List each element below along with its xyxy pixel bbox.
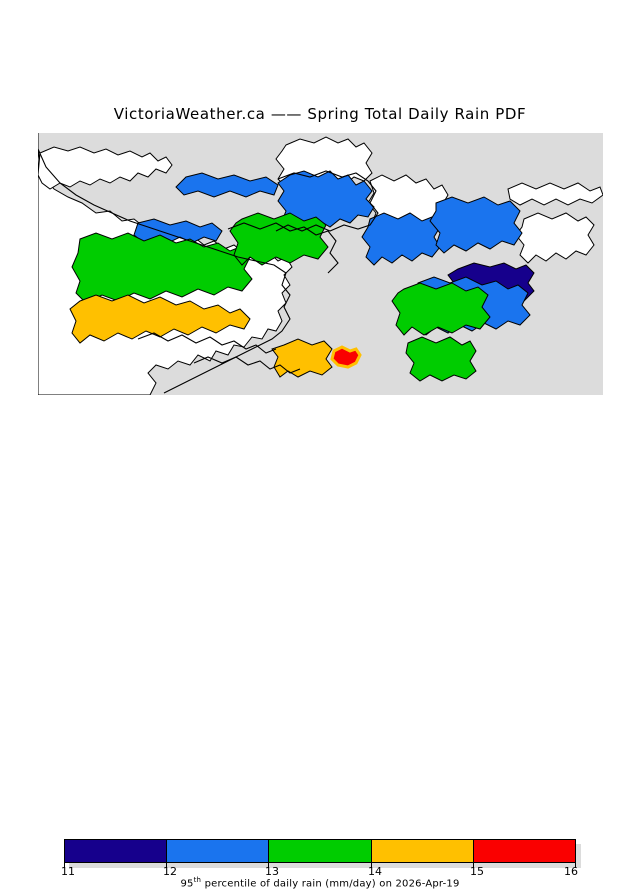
region-southeast-island-green (406, 337, 476, 381)
map-panel[interactable] (38, 133, 603, 395)
page-title: VictoriaWeather.ca —— Spring Total Daily… (0, 105, 640, 123)
colorbar-band-14-15[interactable] (371, 840, 473, 862)
colorbar-legend: 11 12 13 14 15 16 95th percentile of dai… (0, 415, 640, 480)
region-san-juan-green (230, 213, 328, 265)
region-trial-island-red (332, 347, 360, 367)
caption-rest: percentile of daily rain (mm/day) on 202… (201, 878, 459, 889)
colorbar-band-12-13[interactable] (166, 840, 268, 862)
colorbar-band-11-12[interactable] (65, 840, 166, 862)
region-east-green-strip (392, 283, 490, 335)
colorbar-band-15-16[interactable] (473, 840, 575, 862)
map-canvas[interactable] (38, 133, 603, 395)
weather-map-figure: VictoriaWeather.ca —— Spring Total Daily… (0, 0, 640, 480)
colorbar-caption: 95th percentile of daily rain (mm/day) o… (0, 876, 640, 889)
caption-superscript: th (194, 876, 202, 884)
colorbar-band-13-14[interactable] (268, 840, 370, 862)
colorbar-bands[interactable] (64, 839, 576, 863)
caption-prefix: 95 (180, 878, 193, 889)
